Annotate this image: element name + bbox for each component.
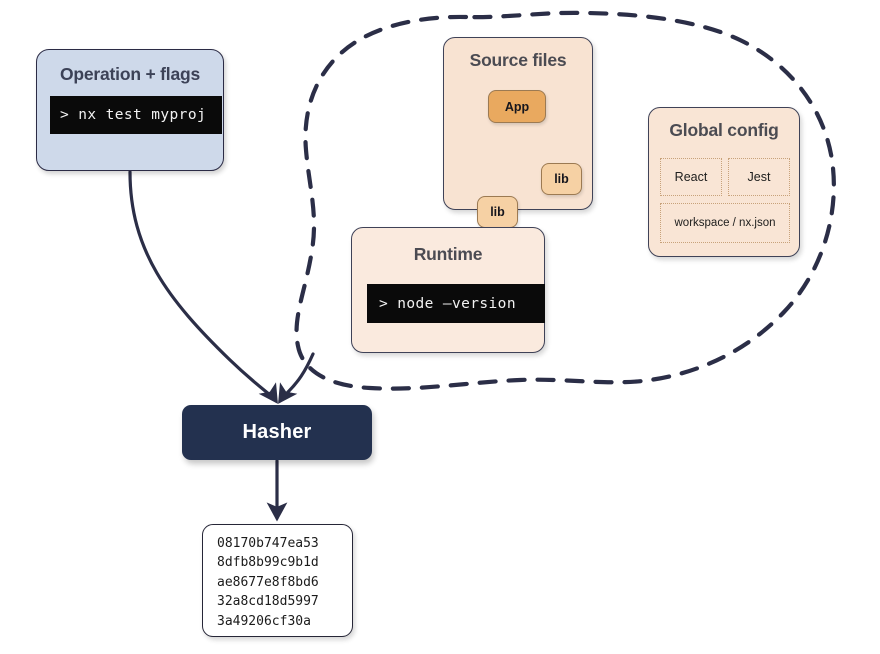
hasher-label: Hasher: [242, 421, 311, 444]
arrow-inputs-to-hasher: [280, 354, 313, 401]
runtime-terminal: > node –version: [367, 284, 545, 323]
hash-output-text: 08170b747ea53 8dfb8b99c9b1d ae8677e8f8bd…: [203, 534, 352, 631]
runtime-title: Runtime: [352, 244, 544, 265]
diagram-canvas: Operation + flags > nx test myproj Sourc…: [0, 0, 880, 654]
operation-flags-card[interactable]: Operation + flags > nx test myproj: [36, 49, 224, 171]
operation-flags-title: Operation + flags: [37, 64, 223, 85]
runtime-command-text: > node –version: [379, 296, 516, 312]
source-node-lib-left[interactable]: lib: [477, 196, 518, 228]
source-files-card[interactable]: Source files App lib lib: [443, 37, 593, 210]
operation-command-text: > nx test myproj: [60, 107, 206, 123]
hasher-node[interactable]: Hasher: [182, 405, 372, 460]
global-config-title: Global config: [649, 120, 799, 141]
source-node-app[interactable]: App: [488, 90, 546, 123]
source-files-title: Source files: [444, 50, 592, 71]
operation-terminal: > nx test myproj: [50, 96, 222, 134]
source-node-lib-right[interactable]: lib: [541, 163, 582, 195]
config-item-jest[interactable]: Jest: [728, 158, 790, 196]
config-item-react[interactable]: React: [660, 158, 722, 196]
arrow-operation-to-hasher: [130, 172, 276, 401]
config-item-workspace-nxjson[interactable]: workspace / nx.json: [660, 203, 790, 243]
hash-output-card: 08170b747ea53 8dfb8b99c9b1d ae8677e8f8bd…: [202, 524, 353, 637]
runtime-card[interactable]: Runtime > node –version: [351, 227, 545, 353]
global-config-card[interactable]: Global config React Jest workspace / nx.…: [648, 107, 800, 257]
